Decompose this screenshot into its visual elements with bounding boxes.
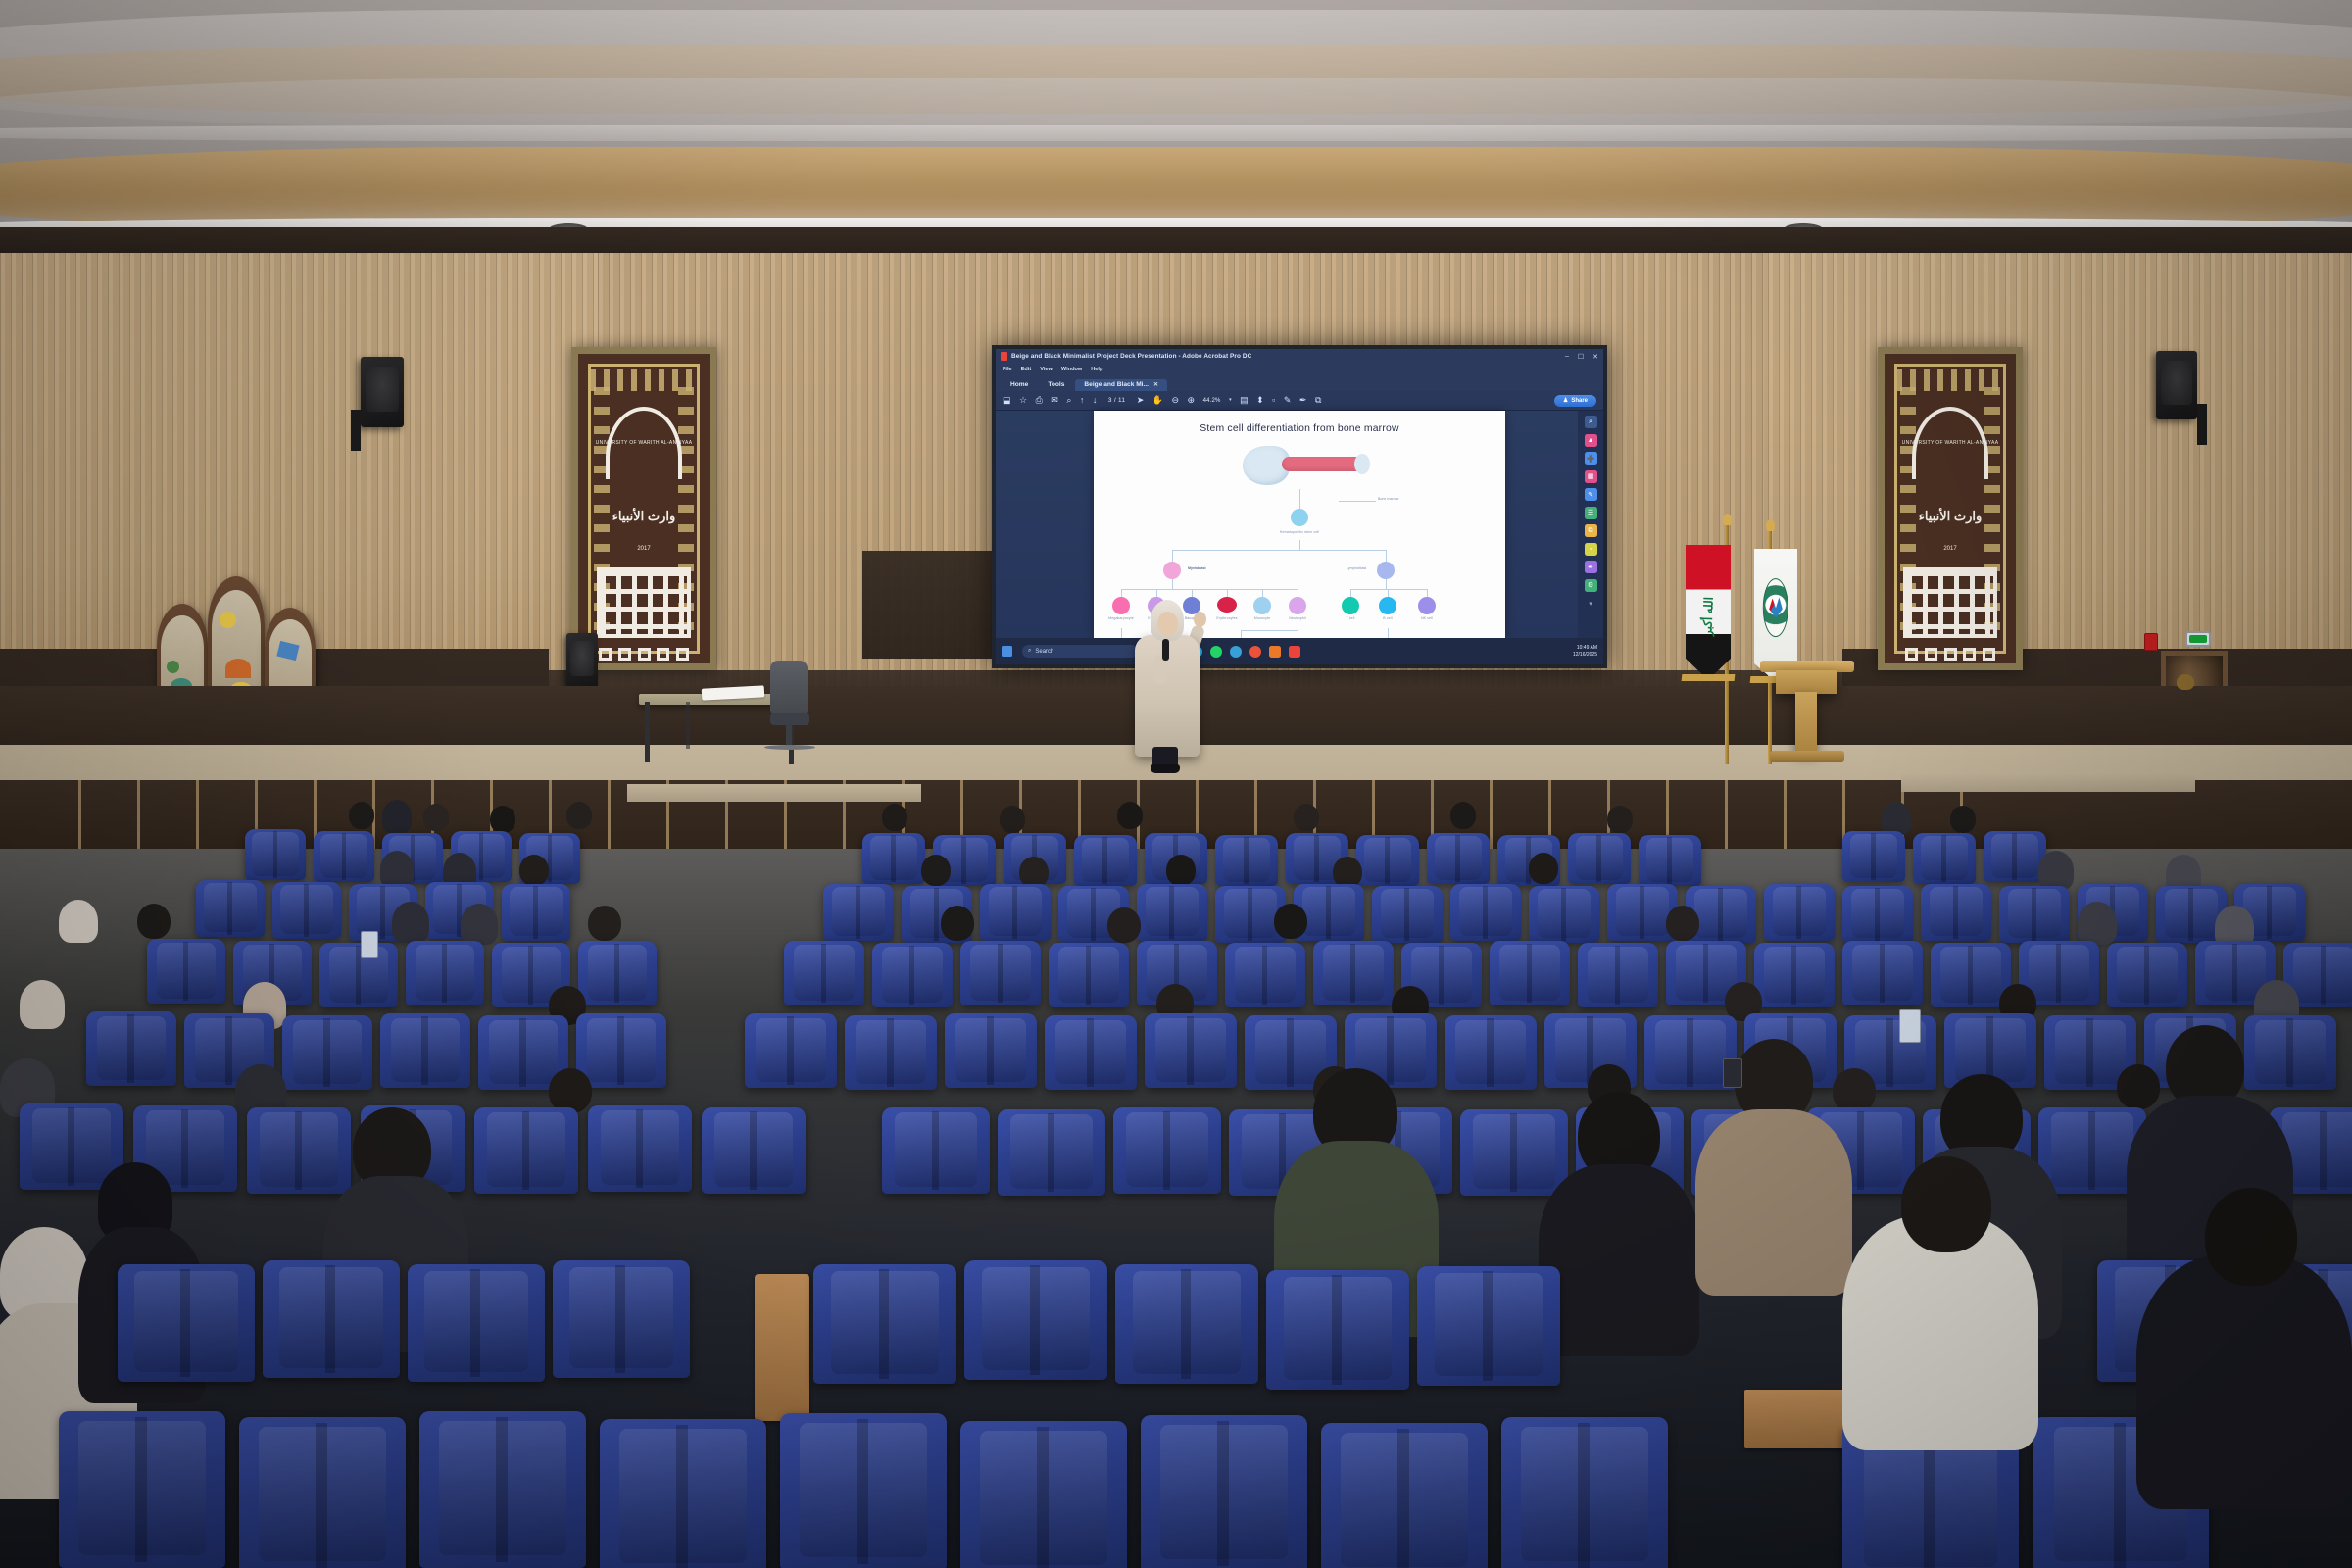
audience-head — [490, 806, 515, 833]
stage-step-left — [627, 784, 921, 802]
audience-head — [882, 804, 907, 831]
panel-box-row — [599, 648, 688, 661]
seat[interactable] — [1754, 943, 1835, 1007]
seat[interactable] — [862, 833, 925, 884]
tab-document-label: Beige and Black Mi... — [1084, 381, 1149, 388]
whatsapp-icon[interactable] — [1210, 646, 1222, 658]
seat[interactable] — [1921, 884, 1991, 941]
edge-icon[interactable] — [1230, 646, 1242, 658]
export-pdf-icon[interactable]: ▲ — [1585, 434, 1597, 447]
chrome-icon[interactable] — [1249, 646, 1261, 658]
exit-sign — [2185, 631, 2211, 647]
seat[interactable] — [1984, 831, 2046, 882]
audience-head — [349, 802, 374, 829]
seat[interactable] — [2107, 943, 2187, 1007]
connector — [1156, 589, 1157, 597]
seat[interactable] — [1764, 884, 1835, 941]
presenter-shoes — [1151, 764, 1180, 773]
seat[interactable] — [960, 941, 1041, 1005]
audience-head — [1607, 806, 1633, 833]
search-icon: ⌕ — [1028, 648, 1031, 655]
audience-head-foreground — [2205, 1188, 2297, 1286]
connector — [1172, 550, 1386, 551]
audience-phone — [1723, 1058, 1742, 1088]
audience-body — [1539, 1164, 1699, 1356]
seat[interactable] — [1356, 835, 1419, 886]
label-bone-marrow: Bone marrow — [1378, 497, 1398, 501]
panel-kufic-calligraphy — [597, 567, 692, 638]
label-stem-cell: Hematopoietic stem cell — [1280, 530, 1319, 534]
seat[interactable] — [1045, 1015, 1137, 1090]
tab-home[interactable]: Home — [1002, 379, 1037, 391]
seat[interactable] — [1842, 886, 1913, 943]
presenter-raised-hand — [1194, 612, 1206, 627]
protect-icon[interactable]: ✒ — [1585, 561, 1597, 573]
email-icon[interactable]: ✉ — [1051, 396, 1058, 405]
seat[interactable] — [780, 1413, 947, 1568]
presenter-face — [1157, 612, 1178, 636]
taskbar-clock[interactable]: 10:49 AM 12/16/2025 — [1573, 645, 1597, 659]
seat[interactable] — [1417, 1266, 1560, 1386]
vlc-icon[interactable] — [1269, 646, 1281, 658]
print-icon[interactable]: ⎙ — [1036, 396, 1043, 405]
seat[interactable] — [86, 1011, 176, 1086]
audience-head — [1666, 906, 1699, 941]
audience-head — [519, 855, 549, 886]
seat[interactable] — [1490, 941, 1570, 1005]
label-erythrocyte: Erythrocytes — [1216, 616, 1237, 620]
bone-illustration — [1243, 446, 1366, 485]
slide-title: Stem cell differentiation from bone marr… — [1094, 423, 1505, 434]
panel-english-text: UNIVERSITY OF WARITH AL-ANBIYAA — [1902, 440, 1999, 446]
university-flag-emblem — [1763, 578, 1788, 637]
seat[interactable] — [1074, 835, 1137, 886]
office-chair-back — [770, 661, 808, 715]
cell-myeloblast — [1163, 562, 1181, 579]
window-controls[interactable]: – ☐ ✕ — [1565, 353, 1598, 361]
seat[interactable] — [1266, 1270, 1409, 1390]
close-button[interactable]: ✕ — [1592, 353, 1598, 361]
audience-head — [1450, 802, 1476, 829]
select-cursor-icon[interactable]: ➤ — [1137, 396, 1145, 405]
seat[interactable] — [419, 1411, 586, 1568]
audience-body — [1695, 1109, 1852, 1296]
star-icon[interactable]: ☆ — [1019, 396, 1027, 405]
audience-hijab — [461, 904, 498, 945]
seat[interactable] — [1427, 833, 1490, 884]
audience-hijab — [1882, 802, 1911, 835]
seat[interactable] — [964, 1260, 1107, 1380]
audience-head — [566, 802, 592, 829]
audience-hijab — [392, 902, 429, 943]
clock-time: 10:49 AM — [1573, 645, 1597, 652]
tab-tools[interactable]: Tools — [1039, 379, 1073, 391]
connector — [1121, 589, 1122, 597]
exit-sign-glyph — [2189, 635, 2206, 642]
podium-emblem — [2177, 674, 2194, 690]
signature-icon[interactable]: ✒ — [1299, 396, 1307, 405]
more-tools-icon[interactable]: ▾ — [1585, 597, 1597, 610]
seat[interactable] — [1313, 941, 1394, 1005]
cell-megakaryocyte — [1112, 597, 1130, 614]
microphone — [1162, 639, 1169, 661]
stage-step-right — [1901, 772, 2195, 792]
edit-pdf-icon[interactable]: ✎ — [1585, 488, 1597, 501]
office-chair-post — [786, 723, 792, 747]
seat[interactable] — [745, 1013, 837, 1088]
seat[interactable] — [845, 1015, 937, 1090]
share-label: Share — [1571, 398, 1588, 404]
audience-head-foreground — [1901, 1156, 1991, 1252]
seat[interactable] — [474, 1107, 578, 1194]
seat[interactable] — [319, 943, 398, 1007]
seat[interactable] — [1639, 835, 1701, 886]
seat[interactable] — [59, 1411, 225, 1568]
seat[interactable] — [813, 1264, 956, 1384]
audience-head — [423, 804, 449, 831]
seat[interactable] — [576, 1013, 666, 1088]
university-emblem-panel-right: UNIVERSITY OF WARITH AL-ANBIYAA وارث الأ… — [1878, 347, 2023, 670]
windows-taskbar[interactable]: ⌕ Search 10:49 AM 12/16/2025 — [996, 638, 1603, 664]
audience-head — [1950, 806, 1976, 833]
seat[interactable] — [1321, 1423, 1488, 1568]
connector — [1386, 579, 1387, 589]
label-neutrophil: Neutrophil — [1289, 616, 1305, 620]
seat[interactable] — [408, 1264, 545, 1382]
seat[interactable] — [1215, 835, 1278, 886]
fit-page-icon[interactable]: ⬍ — [1256, 396, 1264, 405]
seat[interactable] — [1842, 941, 1923, 1005]
seat[interactable] — [823, 884, 894, 941]
fill-sign-icon[interactable]: ▫ — [1585, 543, 1597, 556]
seat[interactable] — [998, 1109, 1105, 1196]
audience-head — [921, 855, 951, 886]
cell-stem — [1291, 509, 1308, 526]
label-myeloblast: Myeloblast — [1188, 566, 1206, 570]
seat[interactable] — [784, 941, 864, 1005]
optimize-pdf-icon[interactable]: ⚙ — [1585, 579, 1597, 592]
connector — [1350, 589, 1351, 597]
comment-icon[interactable]: ▫ — [1272, 396, 1275, 405]
menu-window[interactable]: Window — [1061, 367, 1082, 372]
plaque-dome-icon — [225, 659, 251, 678]
seat[interactable] — [553, 1260, 690, 1378]
podium-column — [1795, 692, 1817, 753]
audience-hijab — [20, 980, 65, 1029]
search-placeholder: Search — [1035, 649, 1053, 655]
podium-foot — [1770, 751, 1844, 762]
connector — [1298, 630, 1298, 638]
clock-date: 12/16/2025 — [1573, 652, 1597, 659]
bone-cap — [1354, 454, 1370, 474]
connector — [1241, 630, 1298, 631]
panel-box-row — [1905, 648, 1994, 661]
cell-nk-cell — [1418, 597, 1436, 614]
seat[interactable] — [702, 1107, 806, 1194]
page-indicator: 3 / 11 — [1108, 397, 1125, 404]
audience-body-foreground — [2136, 1254, 2352, 1509]
seat[interactable] — [1578, 943, 1658, 1007]
panel-arabic-text: وارث الأنبياء — [612, 509, 676, 524]
audience-phone — [1899, 1009, 1921, 1043]
label-monocyte: Monocyte — [1254, 616, 1270, 620]
maximize-button[interactable]: ☐ — [1578, 353, 1584, 361]
plaque-tree-icon — [167, 661, 179, 673]
podium — [1776, 670, 1837, 694]
audience-head — [941, 906, 974, 941]
projection-screen: Beige and Black Minimalist Project Deck … — [992, 345, 1607, 668]
seat[interactable] — [502, 884, 570, 941]
seat[interactable] — [872, 943, 953, 1007]
cell-erythrocyte — [1217, 597, 1237, 612]
previous-page-icon[interactable]: ↑ — [1080, 396, 1085, 405]
audience-hijab — [2078, 902, 2117, 945]
connector — [1192, 589, 1193, 597]
organize-pages-icon[interactable]: ▦ — [1585, 470, 1597, 483]
seat[interactable] — [1145, 1013, 1237, 1088]
cell-neutrophil — [1289, 597, 1306, 614]
speaker-mount-left — [351, 410, 361, 451]
audience-hijab — [382, 800, 412, 833]
seat[interactable] — [600, 1419, 766, 1568]
minimize-button[interactable]: – — [1565, 353, 1569, 360]
seat[interactable] — [239, 1417, 406, 1568]
seat[interactable] — [1113, 1107, 1221, 1194]
page-thumbnails-icon[interactable]: ▤ — [1240, 396, 1249, 405]
panel-year: 2017 — [637, 546, 650, 552]
seat-arm-tablet — [755, 1274, 809, 1421]
connector — [1299, 489, 1300, 511]
seat[interactable] — [1529, 886, 1599, 943]
seat[interactable] — [588, 1105, 692, 1192]
connector — [1121, 628, 1122, 638]
seat[interactable] — [980, 884, 1051, 941]
audience-head — [2117, 1064, 2160, 1109]
seat[interactable] — [578, 941, 657, 1005]
fire-alarm-upper[interactable] — [2144, 633, 2158, 651]
seat[interactable] — [1372, 886, 1443, 943]
iraq-flag: الله أكبر — [1686, 545, 1731, 680]
label-t-cell: T cell — [1346, 616, 1354, 620]
seat[interactable] — [1115, 1264, 1258, 1384]
tab-document[interactable]: Beige and Black Mi... ✕ — [1075, 379, 1167, 391]
highlight-icon[interactable]: ✎ — [1284, 396, 1292, 405]
seat[interactable] — [1450, 884, 1521, 941]
create-pdf-icon[interactable]: ➕ — [1585, 452, 1597, 465]
table-leg — [686, 702, 690, 749]
zoom-in-icon[interactable]: ⊕ — [1188, 396, 1196, 405]
connector — [1339, 501, 1376, 502]
seat[interactable] — [1913, 833, 1976, 884]
cell-t-cell — [1342, 597, 1359, 614]
university-emblem-panel-left: UNIVERSITY OF WARITH AL-ANBIYAA وارث الأ… — [571, 347, 716, 670]
seat[interactable] — [147, 939, 225, 1004]
search-icon[interactable]: ⌕ — [1066, 396, 1071, 405]
connector — [1172, 550, 1173, 562]
seat[interactable] — [1999, 886, 2070, 943]
connector — [1427, 589, 1428, 597]
seat[interactable] — [247, 1107, 351, 1194]
audience-phone — [361, 931, 378, 958]
auditorium-photo: UNIVERSITY OF WARITH AL-ANBIYAA وارث الأ… — [0, 0, 2352, 1568]
connector — [1386, 550, 1387, 562]
seat[interactable] — [1141, 1415, 1307, 1568]
tab-bar[interactable]: Home Tools Beige and Black Mi... ✕ — [996, 374, 1603, 391]
window-title-bar: Beige and Black Minimalist Project Deck … — [996, 349, 1603, 364]
wall-speaker-right-2 — [2156, 351, 2197, 419]
seat[interactable] — [1445, 1015, 1537, 1090]
table-leg — [645, 702, 650, 762]
save-icon[interactable]: ⬓ — [1003, 396, 1011, 405]
acrobat-icon[interactable] — [1289, 646, 1300, 658]
connector — [1388, 589, 1389, 597]
audience-hijab — [59, 900, 98, 943]
seat[interactable] — [272, 882, 341, 939]
seat[interactable] — [282, 1015, 372, 1090]
wall-speaker-left — [361, 357, 404, 427]
panel-year: 2017 — [1943, 546, 1956, 552]
menu-help[interactable]: Help — [1091, 367, 1102, 372]
chevron-down-icon[interactable]: ▾ — [1229, 398, 1232, 403]
share-person-icon: ♟ — [1563, 397, 1568, 404]
audience-head — [1294, 804, 1319, 831]
seat[interactable] — [1049, 943, 1129, 1007]
seat[interactable] — [1568, 833, 1631, 884]
audience-head — [588, 906, 621, 941]
search-tool-icon[interactable]: ⌕ — [1585, 416, 1597, 428]
seat[interactable] — [2244, 1015, 2336, 1090]
document-viewport[interactable]: Stem cell differentiation from bone marr… — [996, 411, 1603, 638]
connector — [1388, 628, 1389, 638]
seat[interactable] — [1460, 1109, 1568, 1196]
seat[interactable] — [1225, 943, 1305, 1007]
tools-sidebar[interactable]: ⌕ ▲ ➕ ▦ ✎ ☰ ⧉ ▫ ✒ ⚙ ▾ — [1578, 411, 1603, 638]
acrobat-toolbar[interactable]: ⬓ ☆ ⎙ ✉ ⌕ ↑ ↓ 3 / 11 ➤ ✋ ⊖ ⊕ 44.2% ▾ ▤ ⬍… — [996, 391, 1603, 411]
tab-close-icon[interactable]: ✕ — [1153, 381, 1158, 388]
plaque-sun-icon — [220, 612, 236, 628]
audience-head — [1117, 802, 1143, 829]
cell-monocyte — [1253, 597, 1271, 614]
audience-head — [1274, 904, 1307, 939]
panel-kufic-calligraphy — [1903, 567, 1998, 638]
comment-tool-icon[interactable]: ☰ — [1585, 507, 1597, 519]
seat[interactable] — [406, 941, 484, 1005]
seat[interactable] — [882, 1107, 990, 1194]
computer-desktop: Beige and Black Minimalist Project Deck … — [996, 349, 1603, 664]
connector — [1350, 589, 1427, 590]
hand-tool-icon[interactable]: ✋ — [1152, 396, 1163, 405]
search-input[interactable]: ⌕ Search — [1022, 645, 1138, 658]
seat[interactable] — [263, 1260, 400, 1378]
cell-lymphoblast — [1377, 562, 1395, 579]
seat[interactable] — [245, 829, 306, 880]
seat[interactable] — [314, 831, 374, 882]
audience-hijab — [380, 851, 414, 888]
connector — [1227, 589, 1228, 597]
panel-english-text: UNIVERSITY OF WARITH AL-ANBIYAA — [596, 440, 693, 446]
share-button[interactable]: ♟ Share — [1554, 395, 1596, 407]
next-page-icon[interactable]: ↓ — [1093, 396, 1098, 405]
seat[interactable] — [1842, 831, 1905, 882]
menu-file[interactable]: File — [1003, 367, 1012, 372]
connector — [1241, 630, 1242, 638]
audience-head — [1529, 853, 1558, 884]
label-megakaryocyte: Megakaryocyte — [1108, 616, 1134, 620]
label-nk-cell: NK cell — [1421, 616, 1433, 620]
connector — [1172, 579, 1173, 589]
combine-files-icon[interactable]: ⧉ — [1585, 524, 1597, 537]
seat[interactable] — [945, 1013, 1037, 1088]
zoom-level: 44.2% — [1203, 398, 1221, 404]
seat[interactable] — [1137, 884, 1207, 941]
acrobat-icon — [1001, 352, 1007, 361]
speaker-mount-right — [2197, 404, 2207, 445]
seat[interactable] — [1501, 1417, 1668, 1568]
audience-head — [1107, 907, 1141, 943]
audience-head — [1166, 855, 1196, 886]
zoom-out-icon[interactable]: ⊖ — [1171, 396, 1179, 405]
connector — [1299, 540, 1300, 550]
flag-base-iraq — [1682, 674, 1736, 681]
menu-bar[interactable]: File Edit View Window Help — [996, 364, 1603, 374]
connector — [1121, 589, 1298, 590]
office-chair-base — [764, 745, 815, 750]
label-lymphoblast: Lymphoblast — [1347, 566, 1366, 570]
label-b-cell: B cell — [1383, 616, 1392, 620]
connector — [1262, 589, 1263, 597]
connector — [1298, 589, 1298, 597]
seat[interactable] — [118, 1264, 255, 1382]
audience-head — [137, 904, 171, 939]
wall-speaker-stage-left — [566, 633, 598, 688]
menu-edit[interactable]: Edit — [1021, 367, 1032, 372]
panel-arabic-text: وارث الأنبياء — [1919, 509, 1983, 524]
windows-start-icon[interactable] — [1002, 646, 1012, 657]
audience-hijab — [2038, 851, 2074, 890]
stamp-icon[interactable]: ⧉ — [1315, 396, 1321, 405]
iraq-flag-inscription: الله أكبر — [1700, 594, 1716, 639]
audience-head — [1000, 806, 1025, 833]
window-title: Beige and Black Minimalist Project Deck … — [1011, 353, 1251, 360]
seat[interactable] — [380, 1013, 470, 1088]
seat[interactable] — [960, 1421, 1127, 1568]
menu-view[interactable]: View — [1040, 367, 1053, 372]
ceiling — [0, 0, 2352, 245]
seat[interactable] — [196, 880, 265, 937]
cell-b-cell — [1379, 597, 1396, 614]
wall-dark-band-top — [0, 227, 2352, 253]
